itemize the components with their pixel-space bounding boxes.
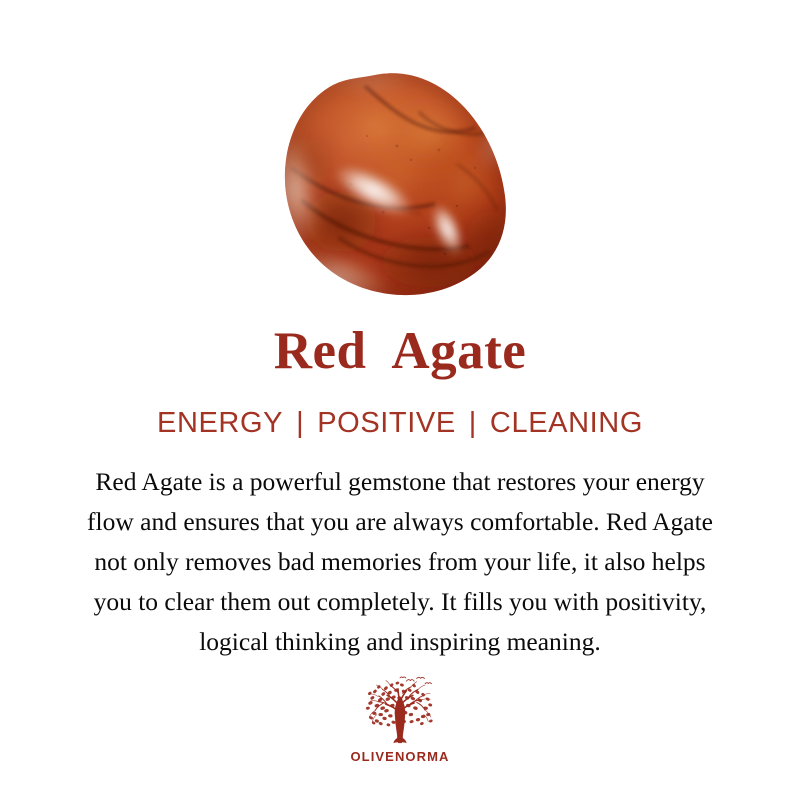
gemstone-figure — [0, 0, 800, 320]
brand-logo: OLIVENORMA — [350, 676, 449, 763]
keyword-separator-1: | — [283, 409, 317, 438]
description-line: flow and ensures that you are always com… — [20, 502, 780, 542]
stone-body — [279, 72, 521, 298]
tree-of-life-icon — [361, 676, 439, 748]
description-line: logical thinking and inspiring meaning. — [20, 622, 780, 662]
gemstone-illustration — [279, 72, 521, 298]
keyword-positive: POSITIVE — [317, 409, 456, 438]
gemstone-image — [279, 72, 521, 298]
brand-name: OLIVENORMA — [350, 750, 449, 763]
keyword-cleaning: CLEANING — [490, 409, 643, 438]
keyword-list: ENERGY | POSITIVE | CLEANING — [157, 406, 643, 440]
product-info-card: Red Agate ENERGY | POSITIVE | CLEANING R… — [0, 0, 800, 800]
keyword-separator-2: | — [456, 409, 490, 438]
product-description: Red Agate is a powerful gemstone that re… — [20, 462, 780, 662]
description-line: you to clear them out completely. It fil… — [20, 582, 780, 622]
description-line: Red Agate is a powerful gemstone that re… — [20, 462, 780, 502]
page-title: Red Agate — [274, 320, 527, 382]
keyword-energy: ENERGY — [157, 409, 283, 438]
description-line: not only removes bad memories from your … — [20, 542, 780, 582]
